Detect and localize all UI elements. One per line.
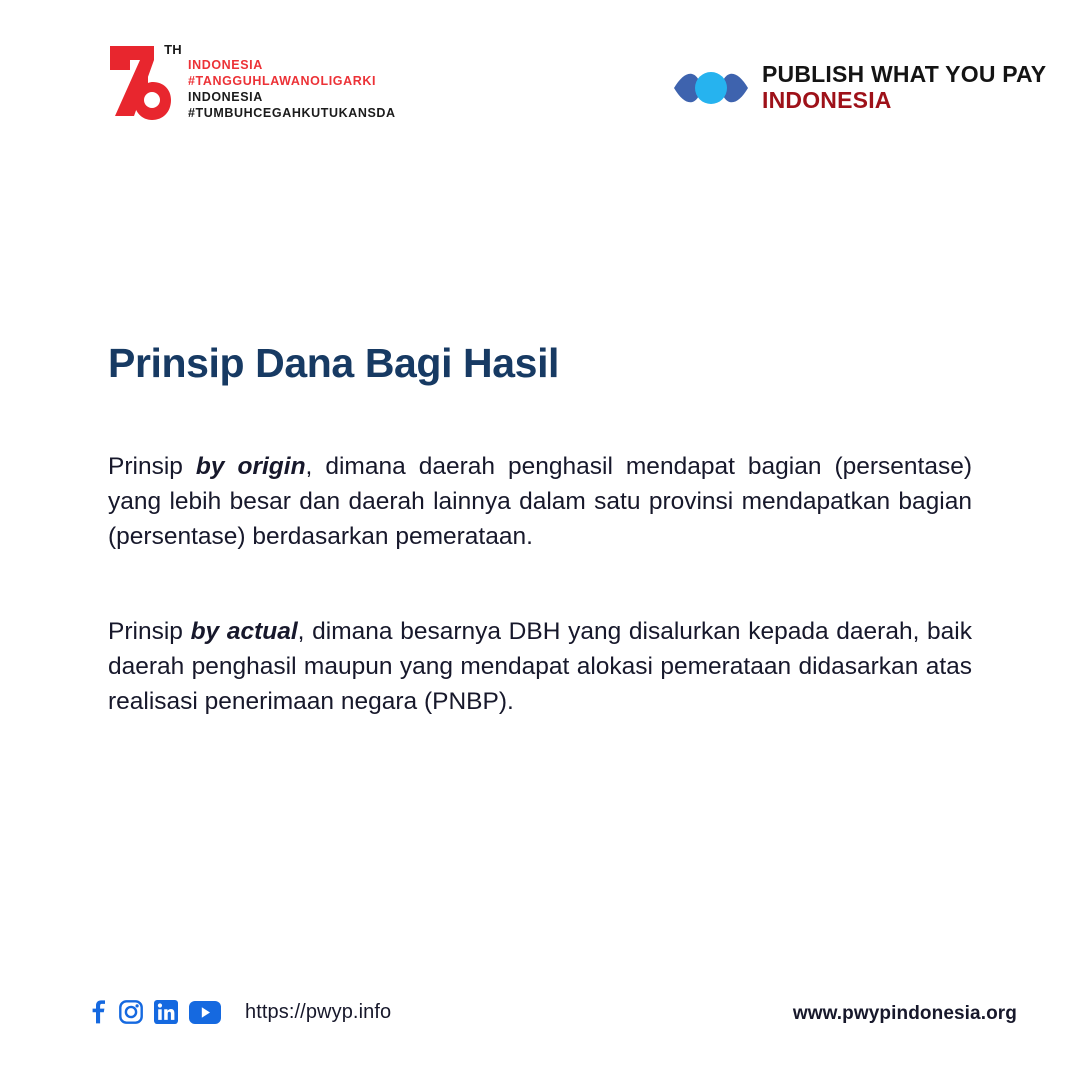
footer-website-url[interactable]: www.pwypindonesia.org: [793, 1003, 1017, 1025]
facebook-icon[interactable]: [88, 1000, 108, 1024]
page-header: TH INDONESIA #TANGGUHLAWANOLIGARKI INDON…: [0, 0, 1080, 160]
paragraph-by-origin: Prinsip by origin, dimana daerah penghas…: [108, 449, 972, 554]
linkedin-icon[interactable]: [154, 1000, 178, 1024]
anniversary-line-2: #TANGGUHLAWANOLIGARKI: [188, 73, 396, 89]
social-links: [88, 1000, 221, 1024]
organization-name: PUBLISH WHAT YOU PAY: [762, 62, 1046, 88]
page-footer: https://pwyp.info www.pwypindonesia.org: [0, 990, 1080, 1080]
organization-logo-text: PUBLISH WHAT YOU PAY INDONESIA: [762, 62, 1046, 114]
numeral-76-icon: TH: [104, 40, 176, 122]
anniversary-line-3: INDONESIA: [188, 89, 396, 105]
footer-left-group: https://pwyp.info: [88, 1000, 391, 1024]
paragraph-emphasis-term: by origin: [196, 453, 306, 480]
ordinal-suffix: TH: [164, 42, 182, 57]
paragraph-lead-text: Prinsip: [108, 618, 191, 645]
anniversary-line-4: #TUMBUHCEGAHKUTUKANSDA: [188, 105, 396, 121]
paragraph-by-actual: Prinsip by actual, dimana besarnya DBH y…: [108, 614, 972, 719]
paragraph-spacer: [108, 554, 972, 614]
instagram-icon[interactable]: [119, 1000, 143, 1024]
main-content: Prinsip Dana Bagi Hasil Prinsip by origi…: [108, 340, 972, 719]
page-title: Prinsip Dana Bagi Hasil: [108, 340, 972, 387]
paragraph-lead-text: Prinsip: [108, 453, 196, 480]
anniversary-logo: TH INDONESIA #TANGGUHLAWANOLIGARKI INDON…: [104, 40, 396, 122]
anniversary-logo-text: INDONESIA #TANGGUHLAWANOLIGARKI INDONESI…: [188, 40, 396, 121]
anniversary-line-1: INDONESIA: [188, 57, 396, 73]
paragraph-emphasis-term: by actual: [191, 618, 298, 645]
youtube-icon[interactable]: [189, 1001, 221, 1024]
organization-logo: PUBLISH WHAT YOU PAY INDONESIA: [672, 62, 1046, 114]
eye-icon: [672, 63, 750, 113]
organization-country: INDONESIA: [762, 88, 1046, 114]
footer-short-url[interactable]: https://pwyp.info: [245, 1001, 391, 1024]
